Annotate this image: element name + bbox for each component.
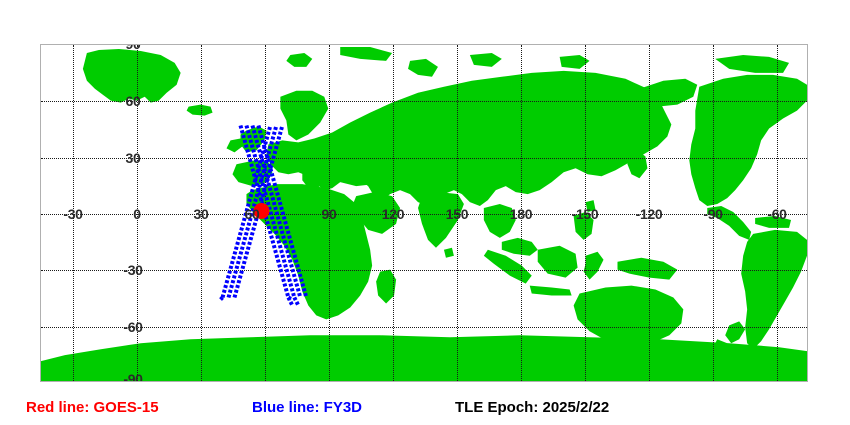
land-sri-lanka — [444, 248, 454, 258]
land-indochina — [484, 204, 516, 238]
legend-red-line-goes15: Red line: GOES-15 — [26, 400, 159, 415]
legend-bar: Red line: GOES-15 Blue line: FY3D TLE Ep… — [0, 396, 850, 425]
land-severnaya — [470, 53, 502, 67]
land-scandinavia — [280, 91, 328, 141]
land-iceland — [187, 105, 213, 116]
land-south-america — [741, 230, 807, 349]
land-central-america — [707, 206, 751, 240]
land-new-guinea — [617, 258, 677, 280]
land-iberia — [233, 160, 273, 186]
land-antarctica — [41, 335, 807, 381]
land-africa — [246, 184, 372, 319]
land-arctic-isles — [340, 47, 392, 61]
land-canada-arctic — [715, 55, 789, 73]
world-map-plot: -30 0 30 60 90 120 150 180 -150 -120 -90… — [40, 44, 808, 382]
land-greenland — [83, 49, 181, 103]
world-landmass-layer — [41, 45, 807, 381]
legend-tle-epoch: TLE Epoch: 2025/2/22 — [455, 400, 609, 415]
land-eurasia — [266, 71, 671, 206]
land-india — [418, 192, 464, 248]
land-java — [530, 286, 572, 296]
land-british-isles — [240, 127, 266, 153]
land-borneo — [538, 246, 578, 278]
land-sulawesi — [584, 252, 604, 280]
land-svalbard — [286, 53, 312, 67]
land-australia — [574, 286, 684, 346]
land-new-zealand — [725, 321, 745, 343]
land-polygons — [41, 47, 807, 381]
legend-blue-line-fy3d: Blue line: FY3D — [252, 400, 362, 415]
land-alaska — [639, 79, 697, 107]
land-malaysia — [502, 238, 538, 256]
land-taiwan — [586, 200, 596, 212]
land-north-america — [689, 75, 807, 206]
land-turkey-anatolia — [336, 170, 376, 186]
land-philippines — [574, 212, 594, 240]
land-novaya-zemlya — [408, 59, 438, 77]
land-new-siberian — [560, 55, 590, 69]
land-caribbean — [755, 216, 791, 228]
figure-canvas: -30 0 30 60 90 120 150 180 -150 -120 -90… — [0, 0, 850, 425]
land-ireland — [227, 138, 243, 152]
land-madagascar — [376, 270, 396, 304]
